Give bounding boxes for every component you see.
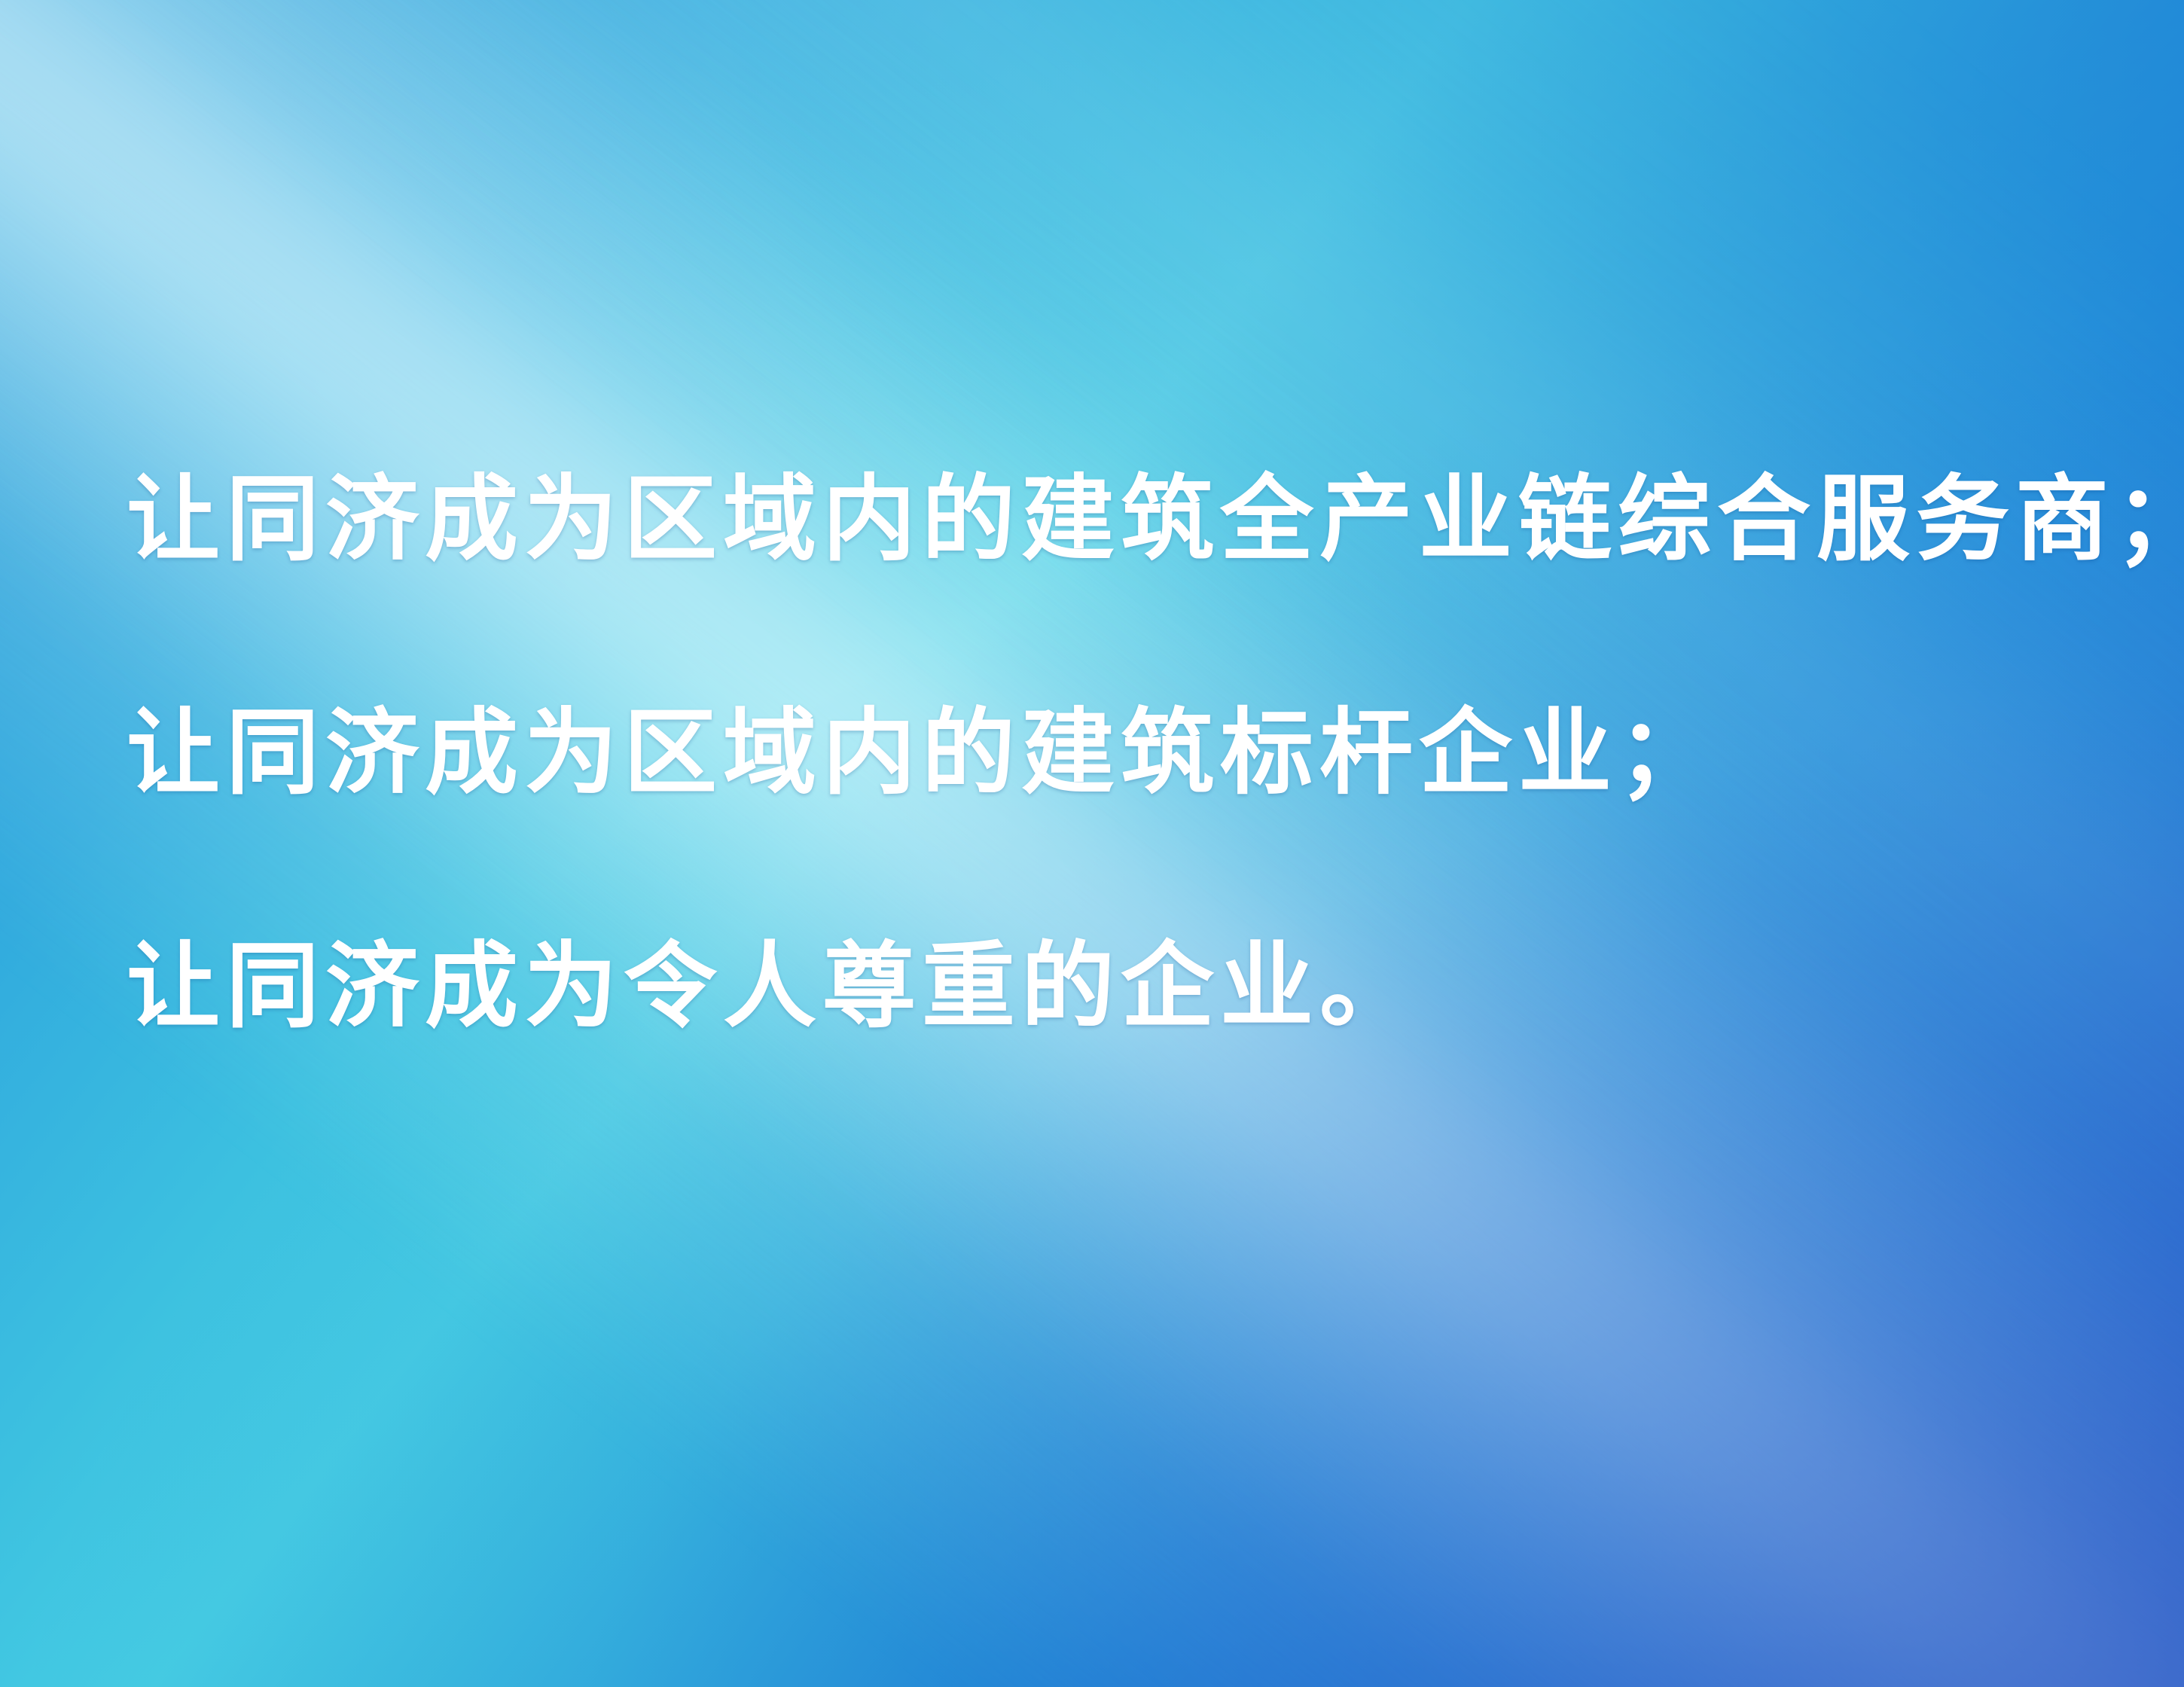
slide-text-line-3: 让同济成为令人尊重的企业。 — [127, 940, 2100, 1033]
slide-text-line-2: 让同济成为区域内的建筑标杆企业； — [127, 706, 2100, 800]
presentation-slide: 让同济成为区域内的建筑全产业链综合服务商； 让同济成为区域内的建筑标杆企业； 让… — [0, 0, 2184, 1687]
slide-text-line-1: 让同济成为区域内的建筑全产业链综合服务商； — [127, 473, 2100, 566]
slide-body-text: 让同济成为区域内的建筑全产业链综合服务商； 让同济成为区域内的建筑标杆企业； 让… — [127, 473, 2100, 1033]
